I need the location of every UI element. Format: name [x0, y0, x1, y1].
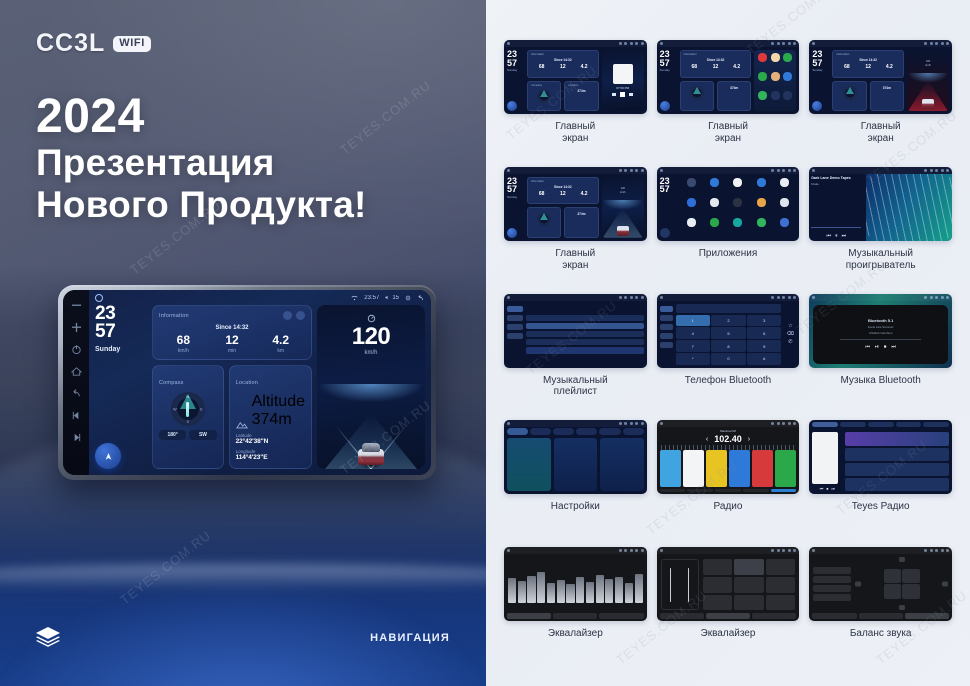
home-dot-icon: [507, 42, 510, 45]
previous-icon[interactable]: ⏮: [827, 233, 832, 239]
tile-caption: Баланс звука: [850, 628, 912, 640]
screenshot-home-media[interactable]: 2357 Sunday Information Since 14:32 68 1…: [504, 40, 647, 114]
wifi-icon: [924, 169, 927, 172]
thumb-app-drawer[interactable]: [754, 50, 796, 111]
status-home-icon[interactable]: [95, 294, 103, 302]
progress-bar[interactable]: [811, 227, 861, 228]
tab-music[interactable]: [868, 422, 894, 427]
gear-icon[interactable]: [405, 295, 411, 301]
vehicle-roof: [362, 443, 380, 452]
footer-tab-eq[interactable]: [507, 613, 551, 619]
app-icon-chrome[interactable]: [771, 53, 780, 62]
back-icon[interactable]: [71, 388, 82, 399]
sidebar-item-contacts[interactable]: [660, 315, 673, 321]
eq-slider[interactable]: [625, 583, 633, 603]
screenshot-playlist[interactable]: [504, 294, 647, 368]
list-item[interactable]: [526, 339, 644, 345]
sidebar-item-settings[interactable]: [660, 342, 673, 348]
screenshot-apps[interactable]: 2357: [657, 167, 800, 241]
thumb-info-stats: 68124.2: [684, 64, 748, 70]
list-item[interactable]: [845, 448, 949, 462]
gallery-tile[interactable]: Баланс звука: [809, 547, 952, 672]
app-icon-music-player[interactable]: [733, 218, 742, 227]
home-icon[interactable]: [71, 366, 82, 377]
speaker-grid: [884, 569, 920, 599]
gallery-tile[interactable]: Настройки: [504, 420, 647, 545]
station-list[interactable]: [845, 432, 949, 491]
list-item[interactable]: [526, 331, 644, 337]
stop-icon[interactable]: ⏹: [826, 486, 828, 491]
clock-icon: [624, 296, 627, 299]
settings-cards[interactable]: [504, 436, 647, 494]
balance-nub-left[interactable]: [855, 581, 861, 586]
wifi-icon: [924, 296, 927, 299]
status-icons: [771, 296, 796, 299]
dial-key-star[interactable]: *: [676, 353, 710, 364]
dial-key-hash[interactable]: #: [747, 353, 781, 364]
thumb-clock-col: 2357 Sunday: [507, 50, 524, 111]
screenshot-radio[interactable]: Maxima FM ‹ 102.40 ›: [657, 420, 800, 494]
play-pause-icon[interactable]: ⏯: [875, 344, 879, 350]
status-icons: [771, 549, 796, 552]
home-dot-icon: [812, 549, 815, 552]
gear-icon: [635, 169, 638, 172]
screenshot-home-speed-2[interactable]: 2357 Sunday Information Since 14:32 6812…: [504, 167, 647, 241]
thumb-compass-card: [680, 81, 714, 111]
setting-card-wifi[interactable]: [507, 438, 551, 491]
tab-news[interactable]: [896, 422, 922, 427]
preset-rock[interactable]: [766, 559, 796, 575]
eq-slider[interactable]: [586, 582, 594, 604]
screenshot-sound-balance[interactable]: [809, 547, 952, 621]
dialer-area[interactable]: 1 2 3 4 5 6 7 8 9 * 0 #: [676, 304, 782, 365]
app-icon-youtube[interactable]: [758, 53, 767, 62]
app-icon-cinema[interactable]: [687, 198, 696, 207]
thumb-nav-fab[interactable]: [507, 101, 517, 111]
footer-tab-field[interactable]: [752, 613, 796, 619]
sidebar-item-dialpad[interactable]: [660, 306, 673, 312]
navigation-fab-button[interactable]: [95, 443, 121, 469]
layers-icon[interactable]: [34, 626, 62, 648]
gallery-tile[interactable]: 2357 Sunday Information Since 14:32 6812…: [504, 167, 647, 292]
clock-icon: [777, 296, 780, 299]
thumb-nav-fab[interactable]: [507, 228, 517, 238]
compass-card[interactable]: Compass N S W E: [152, 365, 224, 469]
gallery-tile[interactable]: 2357 Sunday Information Since 14:32 6812…: [809, 40, 952, 165]
thumb-info-title: Information: [684, 53, 748, 56]
station-controls[interactable]: ⏮ ⏹ ⏭: [812, 486, 842, 491]
tab-system[interactable]: [623, 428, 644, 435]
sidebar-item-search[interactable]: [660, 324, 673, 330]
tab-factory[interactable]: [576, 428, 597, 435]
dial-key-8[interactable]: 8: [711, 340, 745, 351]
driving-speed-panel[interactable]: 120 km/h: [317, 305, 425, 469]
next-track-icon[interactable]: [71, 432, 82, 443]
screenshot-bt-phone[interactable]: 1 2 3 4 5 6 7 8 9 * 0 # ☆: [657, 294, 800, 368]
backspace-icon[interactable]: ⌫: [787, 331, 794, 337]
track-list[interactable]: [526, 304, 644, 365]
dial-key-1[interactable]: 1: [676, 315, 710, 326]
footer-tab-eq[interactable]: [660, 613, 704, 619]
app-icon-maps[interactable]: [783, 53, 792, 62]
preset-flat[interactable]: [734, 595, 764, 611]
back-icon: [793, 549, 796, 552]
compass-direction: SW: [189, 430, 216, 440]
next-icon[interactable]: ⏭: [891, 344, 896, 350]
equalizer-sliders[interactable]: [504, 554, 647, 613]
eq-slider[interactable]: [605, 579, 613, 604]
gear-icon: [635, 296, 638, 299]
pause-icon[interactable]: ⏸: [835, 233, 838, 239]
stat-duration-unit: min: [208, 348, 257, 354]
preset-1[interactable]: [660, 450, 682, 487]
head-unit-display[interactable]: 23:57 15 23: [89, 290, 431, 475]
app-icon-files[interactable]: [771, 91, 780, 100]
status-icons: [619, 42, 644, 45]
toolbar-band[interactable]: [660, 489, 686, 492]
eq-slider[interactable]: [576, 577, 584, 603]
next-icon[interactable]: ⏭: [831, 486, 835, 491]
thumb-body: 2357 Sunday Information Since 14:32 6812…: [657, 47, 800, 114]
power-icon[interactable]: [71, 344, 82, 355]
setting-card-more[interactable]: [600, 438, 644, 491]
information-card[interactable]: Information Since 14:32 68 km/h: [152, 305, 312, 360]
gallery-tile[interactable]: Maxima FM ‹ 102.40 ›: [657, 420, 800, 545]
preset-pop[interactable]: [703, 559, 733, 575]
next-icon[interactable]: ⏭: [842, 233, 847, 239]
thumb-nav-fab[interactable]: [812, 101, 822, 111]
thumb-speed-panel: 120km/h: [602, 177, 644, 238]
call-actions[interactable]: ☆ ⌫ ✆: [784, 304, 796, 365]
phone-sidebar[interactable]: [660, 304, 673, 365]
eq-slider[interactable]: [615, 577, 623, 604]
eq-slider[interactable]: [527, 576, 535, 604]
next-icon[interactable]: [629, 93, 633, 96]
dial-key-5[interactable]: 5: [711, 327, 745, 338]
volume-down-icon[interactable]: [71, 300, 82, 311]
toolbar-power[interactable]: [771, 489, 797, 492]
logo-model: CC3L: [36, 31, 105, 56]
app-icon-gallery[interactable]: [780, 198, 789, 207]
previous-icon[interactable]: ⏮: [820, 486, 824, 491]
list-item[interactable]: [526, 315, 644, 321]
balance-preset-right[interactable]: [813, 594, 851, 601]
app-icon-clock[interactable]: [710, 198, 719, 207]
tune-up-icon[interactable]: ›: [748, 436, 750, 443]
list-item[interactable]: [845, 432, 949, 446]
tile-caption: Главный экран: [861, 121, 901, 145]
thumb-nav-fab[interactable]: [660, 101, 670, 111]
preset-classic[interactable]: [734, 559, 764, 575]
list-item[interactable]: [526, 323, 644, 329]
favorite-icon[interactable]: ☆: [788, 323, 792, 329]
screenshot-music-player[interactable]: Dark Lane Demo Tapes Drake ⏮ ⏸ ⏭: [809, 167, 952, 241]
preset-5[interactable]: [752, 450, 774, 487]
now-playing-bar[interactable]: [526, 347, 644, 354]
radio-presets[interactable]: [657, 450, 800, 487]
app-icon-radio[interactable]: [780, 218, 789, 227]
thumb-status-bar: [504, 167, 647, 174]
gallery-tile[interactable]: 1 2 3 4 5 6 7 8 9 * 0 # ☆: [657, 294, 800, 419]
preset-bass[interactable]: [703, 595, 733, 611]
equalizer-footer-tabs[interactable]: [504, 613, 647, 621]
toolbar-scan[interactable]: [687, 489, 713, 492]
number-field[interactable]: [676, 304, 782, 313]
treble-slider[interactable]: [688, 568, 690, 602]
thumb-altitude: 374m: [721, 86, 747, 90]
wifi-icon: [619, 549, 622, 552]
status-time: 23:57: [364, 295, 379, 301]
preset-3[interactable]: [706, 450, 728, 487]
previous-track-icon[interactable]: [71, 410, 82, 421]
footer-tab-balance[interactable]: [553, 613, 597, 619]
app-icon-play-store[interactable]: [758, 91, 767, 100]
balance-nub-right[interactable]: [942, 581, 948, 586]
app-icon-photos[interactable]: [771, 72, 780, 81]
bt-track-artist: Childish Gambino: [869, 331, 893, 335]
gallery-tile[interactable]: Эквалайзер: [657, 547, 800, 672]
status-icons: [619, 169, 644, 172]
teyes-radio-tabs[interactable]: [809, 420, 952, 432]
volume-icon: [935, 549, 938, 552]
tab-wlan[interactable]: [507, 428, 528, 435]
information-card-header: Information: [159, 311, 305, 320]
gallery-tile[interactable]: 2357 Sunday Information Since 14:32 68 1…: [504, 40, 647, 165]
app-icon-file-manager[interactable]: [757, 198, 766, 207]
tab-sound[interactable]: [530, 428, 551, 435]
thumb-location-title: Location: [568, 84, 594, 87]
eq-slider[interactable]: [557, 580, 565, 604]
preset-vocal[interactable]: [766, 577, 796, 593]
app-icon-calculator[interactable]: [757, 178, 766, 187]
app-grid[interactable]: [680, 177, 797, 238]
dial-pad[interactable]: 1 2 3 4 5 6 7 8 9 * 0 #: [676, 315, 782, 365]
app-icon-spotify[interactable]: [758, 72, 767, 81]
toolbar-list[interactable]: [715, 489, 741, 492]
bass-treble-sliders[interactable]: [661, 559, 699, 610]
balance-preset-left[interactable]: [813, 585, 851, 592]
preset-grid[interactable]: [703, 559, 796, 610]
radio-tuner[interactable]: ‹ 102.40 ›: [657, 433, 800, 445]
sidebar-item-folders[interactable]: [507, 333, 523, 339]
screenshot-settings[interactable]: [504, 420, 647, 494]
home-dot-icon: [660, 42, 663, 45]
app-icon-play-store[interactable]: [757, 218, 766, 227]
thumb-status-bar: [657, 40, 800, 47]
eq-slider[interactable]: [537, 572, 545, 603]
previous-icon[interactable]: [612, 93, 616, 96]
screenshot-equalizer-simple[interactable]: [657, 547, 800, 621]
equalizer-footer-tabs[interactable]: [809, 613, 952, 621]
settings-tabs[interactable]: [504, 427, 647, 436]
footer-tab-balance[interactable]: [859, 613, 903, 619]
thumb-widgets: Information Since 14:32 68124.2 374m: [527, 177, 599, 238]
status-icons: [924, 42, 949, 45]
app-icon-maps[interactable]: [710, 218, 719, 227]
gallery-tile[interactable]: Bluetooth 5.1 Feels Like Summer Childish…: [809, 294, 952, 419]
tile-caption: Эквалайзер: [701, 628, 756, 640]
footer-tab-field[interactable]: [905, 613, 949, 619]
stat-speed-value: 68: [159, 334, 208, 346]
thumb-body: 2357 Sunday Information Since 14:32 68 1…: [504, 47, 647, 114]
setting-card-carplay[interactable]: [554, 438, 598, 491]
preset-4[interactable]: [729, 450, 751, 487]
thumb-stat-3: 4.2: [573, 191, 594, 197]
tab-all[interactable]: [812, 422, 838, 427]
gallery-tile[interactable]: ⏮ ⏹ ⏭ Teyes Радио: [809, 420, 952, 545]
previous-icon[interactable]: ⏮: [865, 344, 870, 350]
screenshot-teyes-radio[interactable]: ⏮ ⏹ ⏭: [809, 420, 952, 494]
equalizer-simple-body: [657, 554, 800, 613]
eq-slider[interactable]: [566, 584, 574, 603]
tune-down-icon[interactable]: ‹: [706, 436, 708, 443]
speed-value: 120: [352, 325, 391, 349]
stop-icon[interactable]: [620, 92, 625, 97]
player-controls[interactable]: ⏮ ⏸ ⏭: [811, 233, 861, 239]
sidebar-item-call-log[interactable]: [660, 333, 673, 339]
thumb-compass-card: [832, 81, 866, 111]
sidebar-item-tracks[interactable]: [507, 306, 523, 312]
app-icon-bluetooth[interactable]: [710, 178, 719, 187]
dial-key-2[interactable]: 2: [711, 315, 745, 326]
eq-slider[interactable]: [508, 578, 516, 603]
gallery-tile[interactable]: Dark Lane Demo Tapes Drake ⏮ ⏸ ⏭ Музыкал…: [809, 167, 952, 292]
volume-up-icon[interactable]: [71, 322, 82, 333]
gallery-tile[interactable]: 2357 Sunday Information Since 14:32 6812…: [657, 40, 800, 165]
dial-key-3[interactable]: 3: [747, 315, 781, 326]
balance-pad[interactable]: [855, 557, 948, 610]
list-item[interactable]: [845, 463, 949, 477]
wifi-icon: [619, 42, 622, 45]
tab-common[interactable]: [553, 428, 574, 435]
dial-key-7[interactable]: 7: [676, 340, 710, 351]
preset-2[interactable]: [683, 450, 705, 487]
equalizer-footer-tabs[interactable]: [657, 613, 800, 621]
balance-preset-rear[interactable]: [813, 576, 851, 583]
thumb-status-bar: [809, 294, 952, 301]
dial-key-6[interactable]: 6: [747, 327, 781, 338]
tab-navigation[interactable]: [599, 428, 620, 435]
balance-nub-front[interactable]: [899, 557, 905, 562]
speed-unit: km/h: [364, 350, 377, 356]
longitude-row: Longitude 114°4'23"E: [236, 449, 305, 461]
hardware-button-rail[interactable]: [63, 290, 89, 475]
stop-icon[interactable]: ⏹: [884, 344, 887, 350]
information-title: Information: [159, 313, 189, 319]
list-item[interactable]: [845, 478, 949, 492]
screenshot-gallery: 2357 Sunday Information Since 14:32 68 1…: [486, 0, 970, 686]
bt-controls[interactable]: ⏮ ⏯ ⏹ ⏭: [865, 344, 896, 350]
clock-icon: [777, 169, 780, 172]
wifi-icon: [619, 422, 622, 425]
back-arrow-icon[interactable]: [417, 295, 424, 301]
dial-key-9[interactable]: 9: [747, 340, 781, 351]
thumb-clock: 2357: [660, 50, 677, 67]
footer-tab-balance[interactable]: [706, 613, 750, 619]
preset-jazz[interactable]: [703, 577, 733, 593]
preset-6[interactable]: [775, 450, 797, 487]
eq-slider[interactable]: [635, 574, 643, 603]
dial-key-4[interactable]: 4: [676, 327, 710, 338]
app-icon-wifi[interactable]: [687, 178, 696, 187]
status-icons: [771, 42, 796, 45]
radio-toolbar[interactable]: [657, 487, 800, 494]
toolbar-eq[interactable]: [743, 489, 769, 492]
footer-tab-field[interactable]: [599, 613, 643, 619]
gallery-tile[interactable]: 2357: [657, 167, 800, 292]
app-icon-music[interactable]: [687, 218, 696, 227]
thumb-status-bar: [657, 547, 800, 554]
volume-icon-and-level[interactable]: 15: [385, 295, 399, 301]
home-screen-body: 23 57 Sunday Information: [89, 305, 431, 475]
location-card[interactable]: Location Altitude 374m Latitude: [229, 365, 312, 469]
bass-slider[interactable]: [670, 568, 672, 602]
call-icon[interactable]: ✆: [788, 339, 792, 345]
sidebar-item-artists[interactable]: [507, 315, 523, 321]
app-icon-bluetooth-music[interactable]: [733, 178, 742, 187]
thumb-widgets: Information Since 14:32 68124.2 374m: [680, 50, 752, 111]
tab-popular[interactable]: [840, 422, 866, 427]
eq-slider[interactable]: [596, 575, 604, 603]
gallery-tile[interactable]: Музыкальный плейлист: [504, 294, 647, 419]
app-icon-mail[interactable]: [783, 72, 792, 81]
hero-panel: CC3L WIFI 2024 Презентация Нового Продук…: [0, 0, 486, 686]
app-icon-all-apps[interactable]: [783, 91, 792, 100]
screenshot-equalizer-bars[interactable]: [504, 547, 647, 621]
home-dot-icon: [660, 169, 663, 172]
gallery-tile[interactable]: Эквалайзер: [504, 547, 647, 672]
volume-icon: [935, 296, 938, 299]
wifi-icon: [924, 549, 927, 552]
bt-progress-bar[interactable]: [840, 339, 921, 340]
wifi-icon: [924, 42, 927, 45]
eq-slider[interactable]: [518, 581, 526, 603]
app-icon-camera[interactable]: [780, 178, 789, 187]
preset-custom[interactable]: [734, 577, 764, 593]
balance-presets[interactable]: [813, 557, 851, 610]
footer-tab-eq[interactable]: [812, 613, 856, 619]
thumb-speed-unit: km/h: [602, 190, 644, 194]
eq-slider[interactable]: [547, 583, 555, 604]
thumb-widgets: Information Since 14:32 68 12 4.2 Compas…: [527, 50, 599, 111]
screenshot-home-speed[interactable]: 2357 Sunday Information Since 14:32 6812…: [809, 40, 952, 114]
screenshot-home-apps[interactable]: 2357 Sunday Information Since 14:32 6812…: [657, 40, 800, 114]
home-dot-icon: [660, 422, 663, 425]
information-expand-icon[interactable]: [296, 311, 305, 320]
balance-preset-front[interactable]: [813, 567, 851, 574]
tile-caption: Радио: [714, 501, 743, 513]
information-refresh-icon[interactable]: [283, 311, 292, 320]
playlist-sidebar[interactable]: [507, 304, 523, 365]
thumb-clock-minutes: 57: [507, 184, 517, 194]
screenshot-bt-music[interactable]: Bluetooth 5.1 Feels Like Summer Childish…: [809, 294, 952, 368]
preset-dance[interactable]: [766, 595, 796, 611]
tile-caption: Эквалайзер: [548, 628, 603, 640]
dial-key-0[interactable]: 0: [711, 353, 745, 364]
home-dot-icon: [812, 296, 815, 299]
balance-nub-rear[interactable]: [899, 605, 905, 610]
altitude-block: Altitude 374m: [252, 393, 305, 429]
thumb-compass-card: [527, 207, 561, 237]
audio-visualizer: [866, 174, 952, 241]
clock-icon: [930, 42, 933, 45]
thumb-stat-3: 4.2: [726, 64, 747, 70]
thumb-back-fab[interactable]: [660, 228, 670, 238]
sidebar-item-albums[interactable]: [507, 324, 523, 330]
tab-favorites[interactable]: [923, 422, 949, 427]
app-icon-dvr[interactable]: [733, 198, 742, 207]
media-controls[interactable]: [612, 92, 633, 97]
